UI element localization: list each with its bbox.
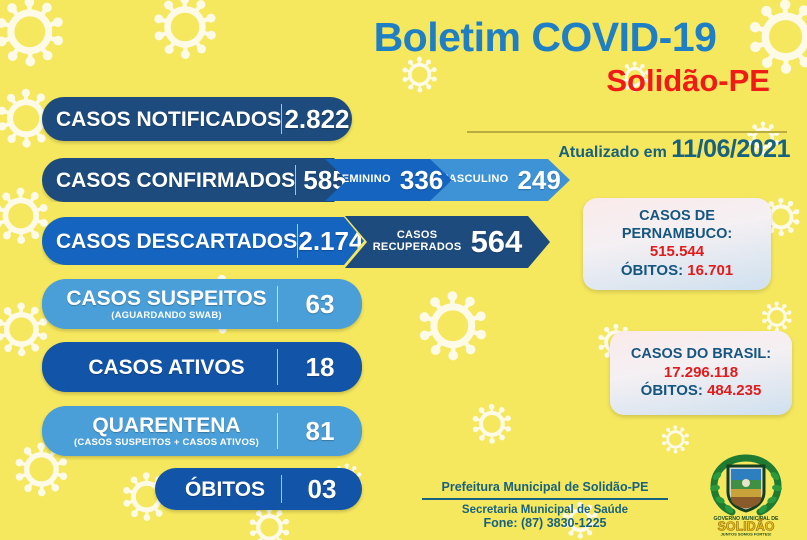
- region-stat-box: CASOS DO BRASIL:17.296.118ÓBITOS: 484.23…: [610, 331, 792, 415]
- region-stat-title-2: PERNAMBUCO:: [622, 226, 732, 244]
- stat-bar-value: 81: [278, 416, 362, 447]
- stat-bar-sublabel: (CASOS SUSPEITOS + CASOS ATIVOS): [56, 438, 277, 448]
- stat-bar-value: 18: [278, 352, 362, 383]
- stat-bar-value: 03: [282, 474, 362, 505]
- stat-bar: CASOS SUSPEITOS(AGUARDANDO SWAB)63: [42, 279, 362, 329]
- arrow-stat-value: 564: [471, 224, 523, 260]
- stat-bar-value: 2.174: [298, 226, 364, 257]
- footer-divider: [422, 498, 668, 500]
- stat-bar-label: CASOS CONFIRMADOS: [56, 170, 295, 191]
- virus-icon: [760, 300, 794, 334]
- stat-bar-label: CASOS SUSPEITOS: [56, 288, 277, 309]
- updated-label: Atualizado em: [558, 144, 666, 161]
- stat-bar-sublabel: (AGUARDANDO SWAB): [56, 311, 277, 321]
- region-stat-title: CASOS DE: [639, 208, 715, 226]
- virus-icon: [247, 505, 292, 540]
- region-stat-deaths-row: ÓBITOS: 16.701: [621, 262, 733, 280]
- stat-bar-label-group: CASOS ATIVOS: [42, 357, 277, 378]
- stat-bar-label-group: CASOS CONFIRMADOS: [42, 170, 295, 191]
- stat-bar-value: 63: [278, 289, 362, 320]
- stat-bar-label: CASOS ATIVOS: [56, 357, 277, 378]
- arrow-stat-value: 336: [400, 165, 443, 196]
- region-stat-deaths: 16.701: [687, 262, 733, 279]
- stat-bar: CASOS NOTIFICADOS2.822: [42, 97, 352, 141]
- stat-bar-label: ÓBITOS: [169, 479, 281, 500]
- footer: Prefeitura Municipal de Solidão-PE Secre…: [400, 480, 690, 530]
- virus-icon: [150, 0, 220, 62]
- arrow-stat-value: 249: [517, 165, 560, 196]
- page-subtitle: Solidão-PE: [300, 63, 790, 99]
- date-divider: [467, 131, 787, 133]
- stat-bar: ÓBITOS03: [155, 468, 362, 510]
- municipal-crest-logo: GOVERNO MUNICIPAL DE SOLIDÃO JUNTOS SOMO…: [694, 452, 798, 536]
- stat-bar: CASOS DESCARTADOS2.174: [42, 217, 364, 265]
- stat-bar: QUARENTENA(CASOS SUSPEITOS + CASOS ATIVO…: [42, 406, 362, 456]
- stat-bar-label-group: QUARENTENA(CASOS SUSPEITOS + CASOS ATIVO…: [42, 415, 277, 448]
- region-stat-box: CASOS DEPERNAMBUCO:515.544ÓBITOS: 16.701: [583, 198, 771, 290]
- page-title: Boletim COVID-19: [300, 16, 790, 59]
- virus-icon: [0, 0, 68, 70]
- footer-phone: Fone: (87) 3830-1225: [400, 516, 690, 530]
- stat-bar-label-group: CASOS NOTIFICADOS: [42, 109, 281, 130]
- stat-bar-label-group: CASOS SUSPEITOS(AGUARDANDO SWAB): [42, 288, 277, 321]
- updated-date-block: Atualizado em 11/06/2021: [460, 135, 790, 164]
- header-block: Boletim COVID-19 Solidão-PE: [300, 16, 790, 99]
- stat-bar-label-group: CASOS DESCARTADOS: [42, 231, 297, 252]
- stat-bar: CASOS ATIVOS18: [42, 342, 362, 392]
- region-stat-deaths-row: ÓBITOS: 484.235: [641, 382, 762, 400]
- region-stat-cases: 515.544: [650, 243, 704, 261]
- stat-bar-label: QUARENTENA: [56, 415, 277, 436]
- stat-bar-label: CASOS DESCARTADOS: [56, 231, 297, 252]
- virus-icon: [470, 402, 514, 446]
- covid-bulletin-poster: Boletim COVID-19 Solidão-PE Atualizado e…: [0, 0, 807, 540]
- region-stat-title: CASOS DO BRASIL:: [631, 346, 771, 364]
- arrow-stat: CASOSRECUPERADOS564: [345, 216, 550, 268]
- footer-prefeitura: Prefeitura Municipal de Solidão-PE: [400, 480, 690, 494]
- footer-secretaria: Secretaria Municipal de Saúde: [400, 504, 690, 516]
- virus-icon: [415, 288, 491, 364]
- stat-bar: CASOS CONFIRMADOS585: [42, 158, 354, 202]
- stat-bar-label-group: ÓBITOS: [155, 479, 281, 500]
- region-stat-cases: 17.296.118: [664, 364, 738, 382]
- stat-bar-label: CASOS NOTIFICADOS: [56, 109, 281, 130]
- virus-icon: [660, 424, 691, 455]
- arrow-stat-label: CASOSRECUPERADOS: [373, 230, 462, 253]
- stat-bar-value: 2.822: [282, 104, 352, 135]
- updated-date: 11/06/2021: [671, 135, 790, 163]
- crest-motto: JUNTOS SOMOS FORTES!: [721, 532, 772, 537]
- region-stat-deaths: 484.235: [707, 382, 761, 399]
